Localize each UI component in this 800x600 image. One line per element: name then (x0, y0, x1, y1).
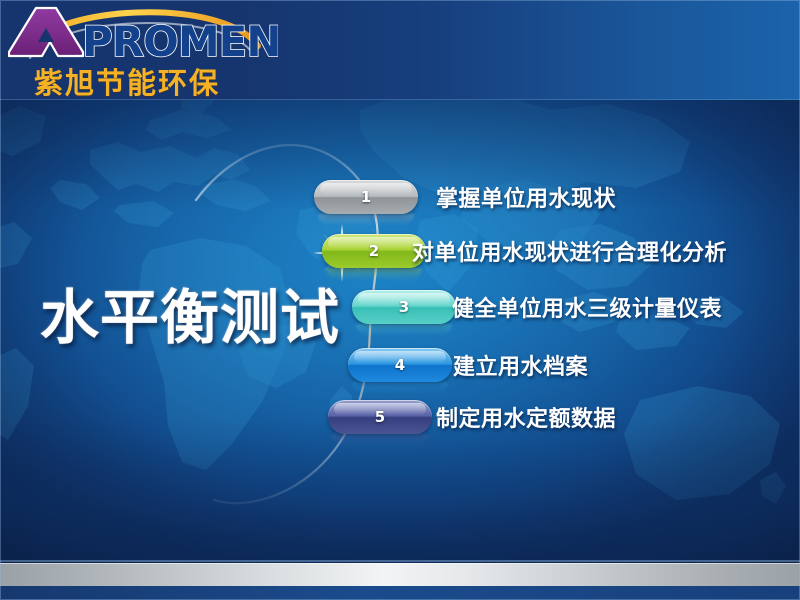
step-pill-1[interactable]: 1 (314, 180, 418, 214)
slide-canvas: PROMEN 紫旭节能环保 水平衡测试 (0, 0, 800, 600)
step-label-4: 建立用水档案 (453, 349, 588, 381)
step-number-3: 3 (352, 290, 456, 324)
step-pill-reflection-5 (332, 434, 428, 446)
step-pill-3[interactable]: 3 (352, 290, 456, 324)
step-pill-reflection-2 (326, 268, 422, 280)
step-pill-2[interactable]: 2 (322, 234, 426, 268)
step-number-1: 1 (314, 180, 418, 214)
steps-list: 1 掌握单位用水现状 2 对单位用水现状进行合理化分析 3 健全单位用水三级计量… (0, 0, 800, 600)
step-pill-reflection-3 (356, 324, 452, 336)
step-pill-reflection-1 (318, 214, 414, 226)
step-number-4: 4 (348, 348, 452, 382)
step-pill-4[interactable]: 4 (348, 348, 452, 382)
step-pill-reflection-4 (352, 382, 448, 394)
footer-band (0, 560, 800, 600)
step-label-3: 健全单位用水三级计量仪表 (452, 291, 722, 323)
step-label-1: 掌握单位用水现状 (436, 181, 616, 213)
footer-divider (0, 560, 800, 562)
footer-silver-bar (0, 563, 800, 587)
step-label-2: 对单位用水现状进行合理化分析 (412, 235, 727, 267)
step-pill-5[interactable]: 5 (328, 400, 432, 434)
step-number-5: 5 (328, 400, 432, 434)
step-number-2: 2 (322, 234, 426, 268)
footer-blue-bar (0, 586, 800, 600)
step-label-5: 制定用水定额数据 (436, 401, 616, 433)
